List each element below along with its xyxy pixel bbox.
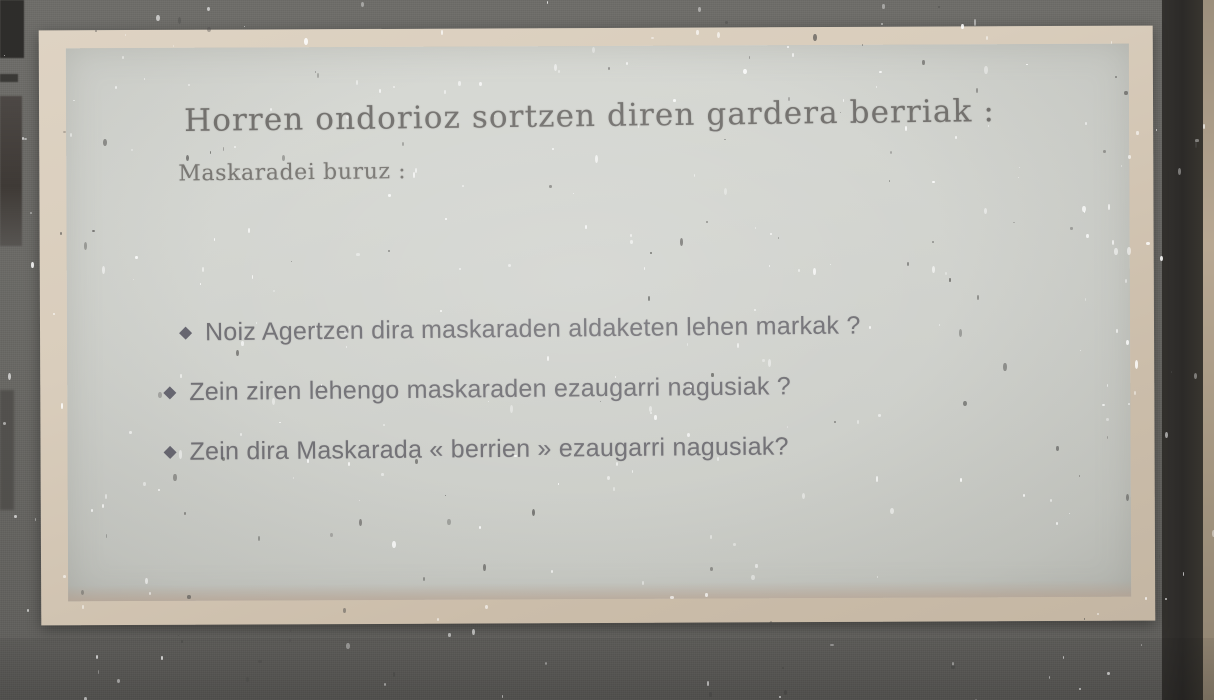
slide-subtitle: Maskaradei buruz : (178, 159, 406, 186)
left-dark-shape-top (0, 0, 24, 58)
right-tan-wall-strip (1203, 0, 1214, 700)
bullet-diamond-icon: ◆ (179, 323, 205, 340)
projection-screen-border: Horren ondorioz sortzen diren gardera be… (39, 26, 1156, 626)
projection-screen-surface: Horren ondorioz sortzen diren gardera be… (66, 44, 1131, 602)
slide-title: Horren ondorioz sortzen diren gardera be… (184, 93, 995, 139)
left-dark-shape-block (0, 96, 22, 246)
list-item: ◆ Zein dira Maskarada « berrien » ezauga… (163, 430, 1093, 467)
slide-bullet-list: ◆ Noiz Agertzen dira maskaraden aldakete… (163, 312, 1094, 496)
screenshot-root: Horren ondorioz sortzen diren gardera be… (0, 0, 1214, 700)
bullet-text: Zein dira Maskarada « berrien » ezaugarr… (189, 432, 788, 466)
left-dark-shape-mid (0, 74, 18, 82)
bullet-text: Noiz Agertzen dira maskaraden aldaketen … (205, 311, 861, 347)
list-item: ◆ Zein ziren lehengo maskaraden ezaugarr… (163, 369, 1093, 407)
bullet-text: Zein ziren lehengo maskaraden ezaugarri … (189, 372, 791, 407)
left-dark-shape-lower (0, 390, 14, 510)
bullet-diamond-icon: ◆ (163, 443, 189, 460)
right-dark-band (1162, 0, 1203, 700)
bullet-diamond-icon: ◆ (163, 383, 189, 400)
list-item: ◆ Noiz Agertzen dira maskaraden aldakete… (163, 309, 1093, 348)
slide-content: Horren ondorioz sortzen diren gardera be… (66, 44, 1131, 602)
